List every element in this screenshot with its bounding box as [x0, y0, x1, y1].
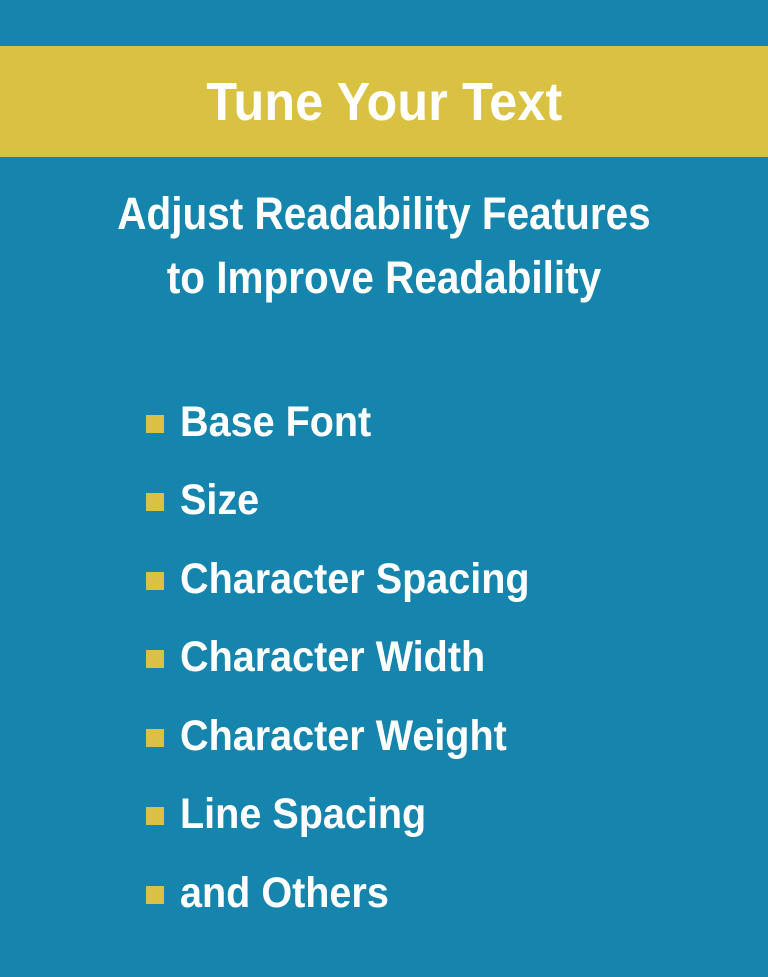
- subtitle-line-2: to Improve Readability: [64, 246, 705, 310]
- square-bullet-icon: [146, 807, 164, 825]
- list-item: Character Weight: [146, 697, 746, 776]
- list-item-label: Base Font: [180, 401, 371, 444]
- list-item: Size: [146, 462, 746, 541]
- list-item: Base Font: [146, 383, 746, 462]
- square-bullet-icon: [146, 493, 164, 511]
- list-item-label: Line Spacing: [180, 793, 426, 836]
- page-title: Tune Your Text: [206, 75, 562, 129]
- list-item-label: Character Spacing: [180, 558, 530, 601]
- feature-list: Base Font Size Character Spacing Charact…: [146, 383, 746, 933]
- square-bullet-icon: [146, 650, 164, 668]
- list-item: Character Spacing: [146, 540, 746, 619]
- slide-root: Tune Your Text Adjust Readability Featur…: [0, 0, 768, 977]
- square-bullet-icon: [146, 729, 164, 747]
- square-bullet-icon: [146, 886, 164, 904]
- list-item-label: Size: [180, 479, 259, 522]
- list-item: Character Width: [146, 619, 746, 698]
- subtitle: Adjust Readability Features to Improve R…: [0, 182, 768, 310]
- list-item-label: Character Weight: [180, 715, 507, 758]
- list-item: Line Spacing: [146, 776, 746, 855]
- subtitle-line-1: Adjust Readability Features: [64, 182, 705, 246]
- square-bullet-icon: [146, 572, 164, 590]
- title-band: Tune Your Text: [0, 46, 768, 157]
- list-item-label: and Others: [180, 872, 389, 915]
- list-item: and Others: [146, 854, 746, 933]
- square-bullet-icon: [146, 415, 164, 433]
- list-item-label: Character Width: [180, 636, 485, 679]
